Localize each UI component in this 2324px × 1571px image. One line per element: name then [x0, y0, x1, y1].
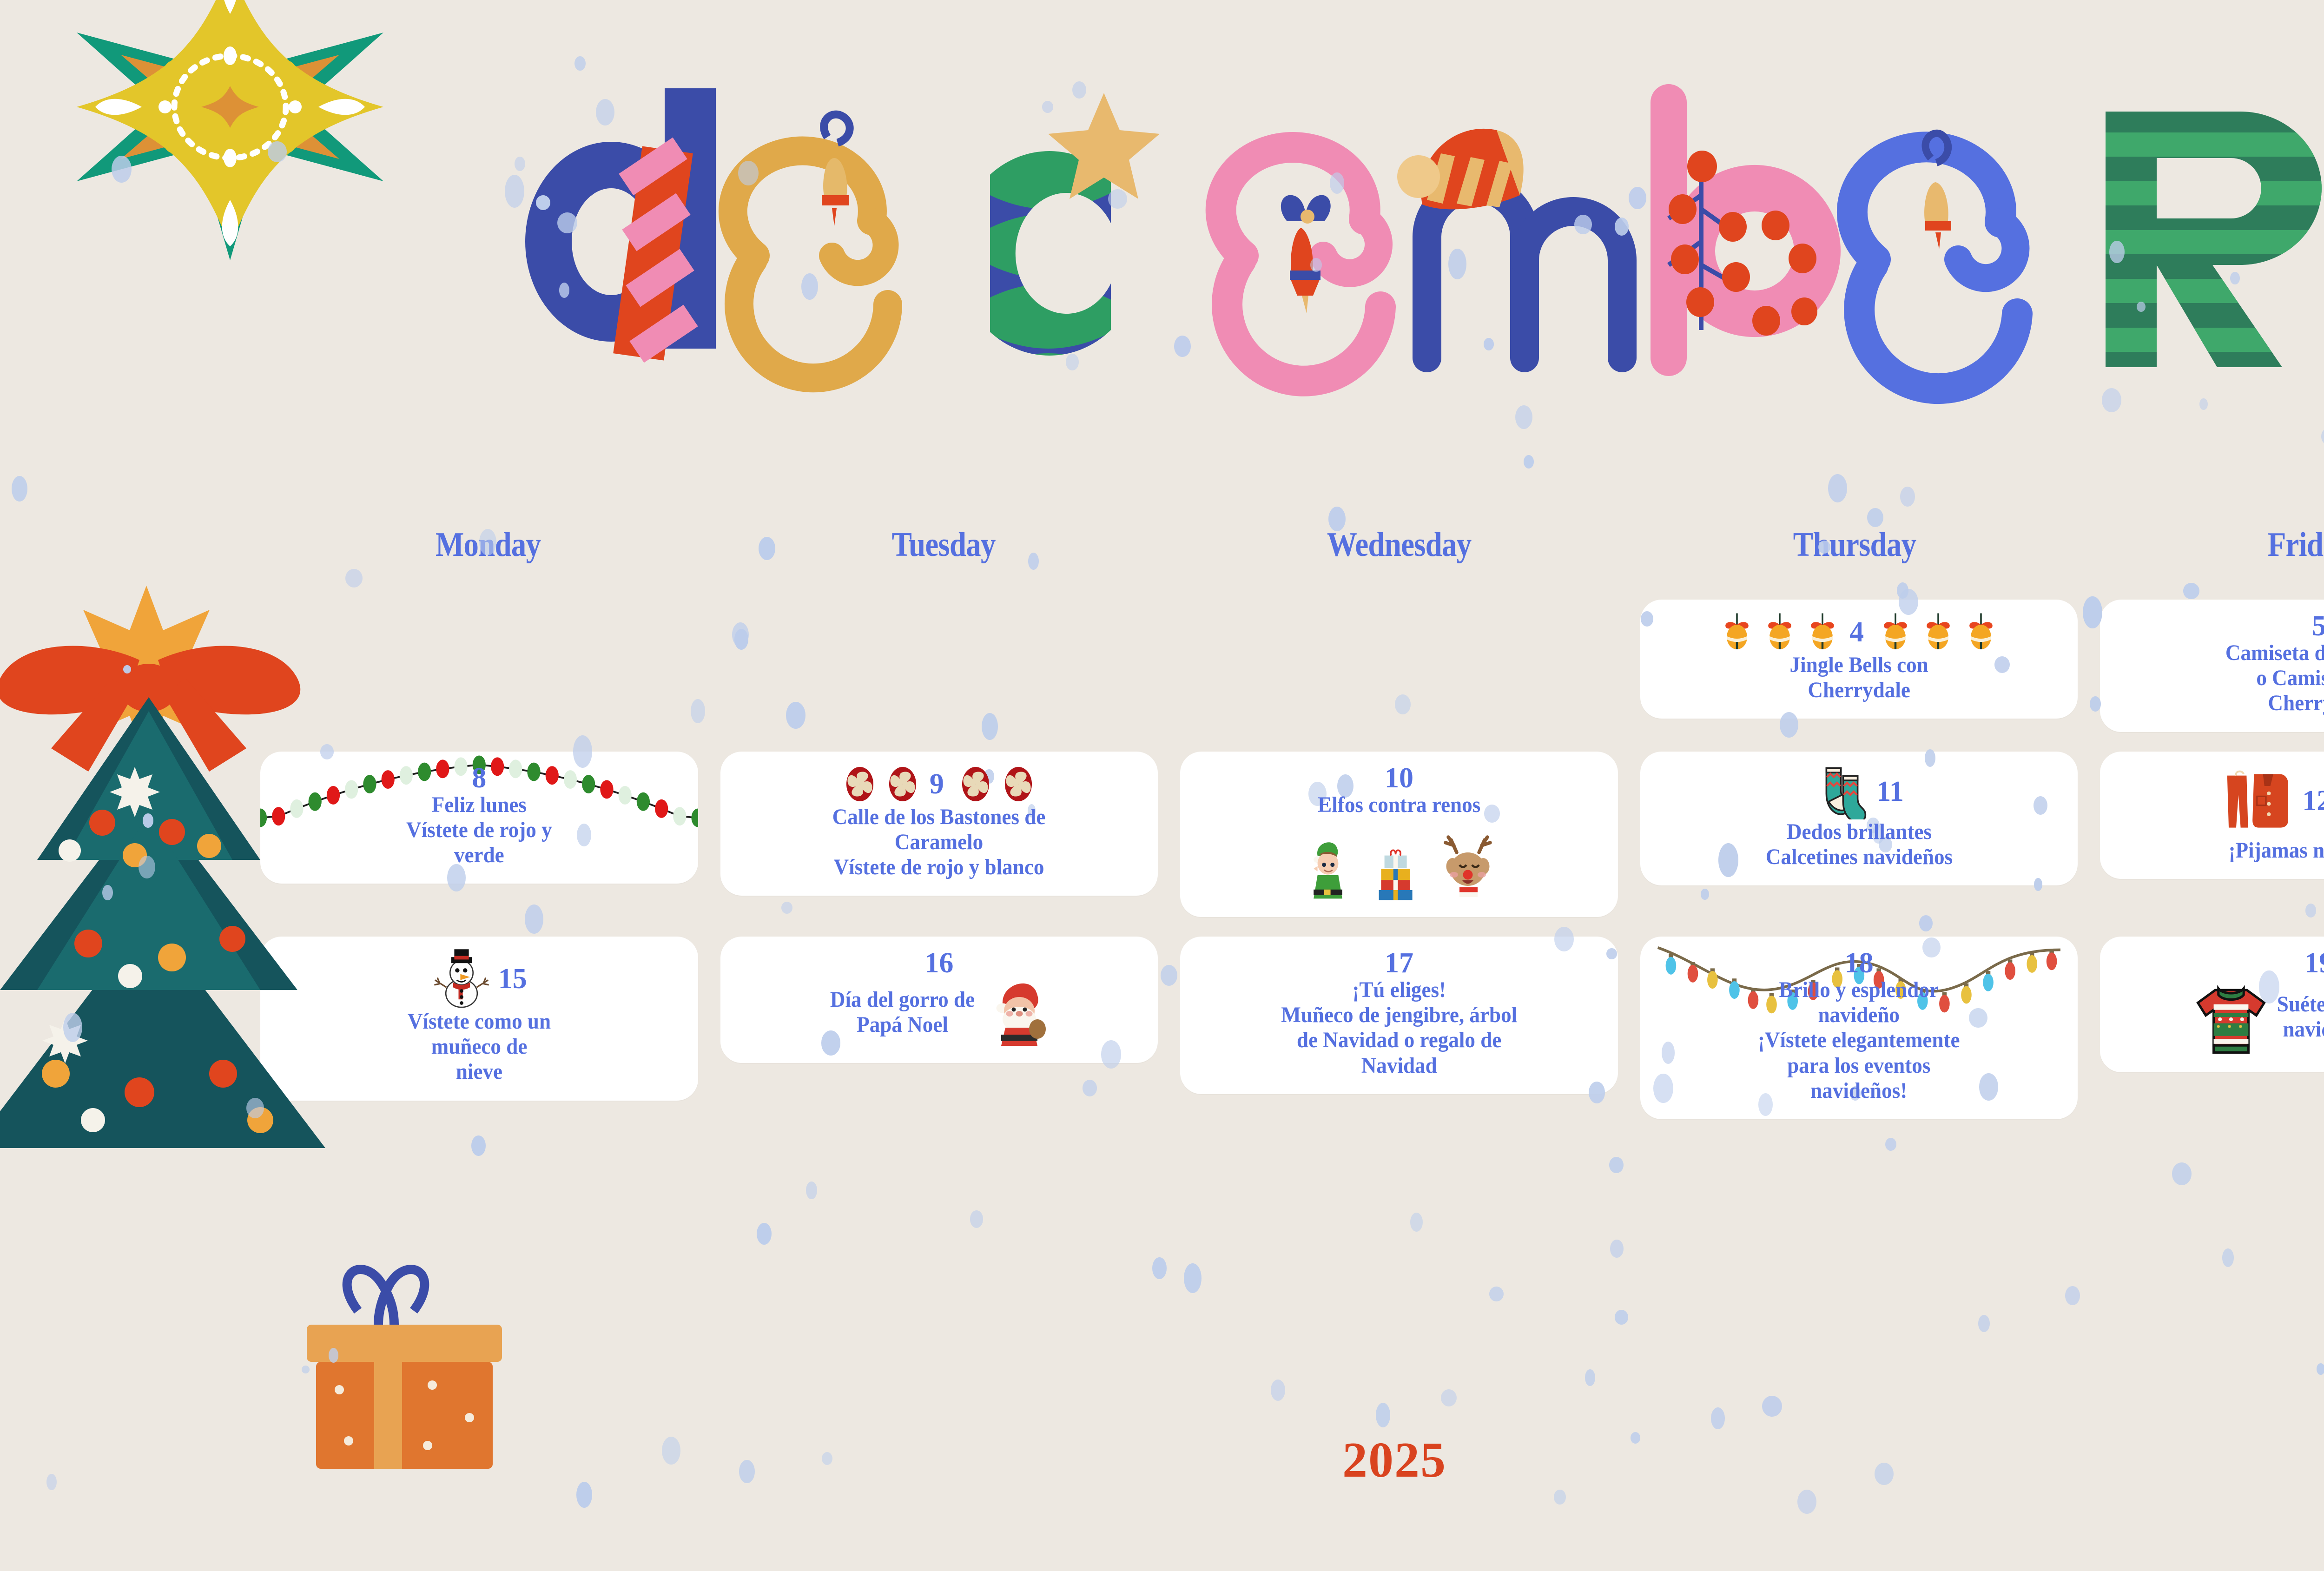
snow-dot	[1762, 1396, 1782, 1417]
snow-dot	[1441, 1389, 1457, 1406]
calendar-cell: 9 Calle de los Bastones deCarameloVístet…	[720, 752, 1158, 896]
title-letter-R	[2082, 98, 2324, 386]
day-number-row: 18	[1654, 949, 2064, 977]
card-text-row: Vístete como unmuñeco denieve	[274, 1009, 684, 1085]
day-number: 19	[2304, 949, 2324, 977]
elf-icon	[1295, 836, 1360, 901]
snow-dot	[329, 1348, 338, 1363]
jingle-bell-icon	[1802, 612, 1843, 653]
card-text-row: Feliz lunesVístete de rojo yverde	[274, 792, 684, 868]
card-description-line: ¡Pijamas navideños!	[2228, 838, 2324, 863]
snow-dot	[1978, 1315, 1990, 1332]
snow-dot	[123, 665, 131, 673]
snow-dot	[2065, 1286, 2080, 1305]
card-description-line: navidad	[2277, 1017, 2324, 1042]
christmas-socks-icon	[1814, 764, 1870, 819]
snow-dot	[102, 885, 113, 901]
snow-dot	[1152, 1257, 1167, 1279]
card-icons-right	[955, 764, 1039, 805]
card-icons-left	[839, 764, 923, 805]
card-description-line: verde	[406, 843, 552, 868]
card-description: Jingle Bells conCherrydale	[1789, 653, 1928, 703]
day-number-row: 17	[1194, 949, 1604, 977]
title-letter-e-2	[1221, 147, 1380, 381]
peppermint-candy-icon	[955, 764, 996, 805]
calendar-cell: 16Día del gorro dePapá Noel	[720, 937, 1158, 1063]
card-icons-left	[431, 949, 492, 1009]
snow-dot	[143, 813, 154, 828]
day-card-12[interactable]: 12 ¡Pijamas navideños!	[2100, 752, 2324, 879]
card-description-line: para los eventos	[1758, 1053, 1960, 1078]
weekday-header-friday: Friday	[2110, 525, 2324, 581]
calendar-cell: 5Camiseta de navidado Camiseta deCherryd…	[2100, 600, 2324, 732]
reindeer-icon	[1433, 832, 1503, 901]
calendar-cell	[260, 600, 698, 604]
card-description-line: Navidad	[1281, 1053, 1517, 1078]
card-text-row: ¡Pijamas navideños!	[2114, 838, 2324, 863]
card-description-line: Vístete de rojo y blanco	[832, 855, 1046, 880]
card-description: Vístete como unmuñeco denieve	[408, 1009, 551, 1085]
card-description-line: nieve	[408, 1059, 551, 1084]
snow-dot	[139, 856, 155, 879]
calendar-cell: 17¡Tú eliges!Muñeco de jengibre, árbolde…	[1180, 937, 1618, 1094]
card-icons-right	[1875, 612, 2001, 653]
snow-dot	[471, 1135, 486, 1156]
title-letter-d	[525, 88, 716, 363]
card-description: Brillo y esplendornavideño¡Vístete elega…	[1758, 977, 1960, 1103]
snow-dot	[1184, 1263, 1202, 1293]
snow-dot	[1554, 1490, 1565, 1505]
card-description: Calle de los Bastones deCarameloVístete …	[832, 805, 1046, 880]
card-description-line: navideños!	[1758, 1078, 1960, 1103]
day-card-5[interactable]: 5Camiseta de navidado Camiseta deCherryd…	[2100, 600, 2324, 732]
card-description-line: Jingle Bells con	[1789, 653, 1928, 678]
card-text-row: Elfos contra renos	[1194, 792, 1604, 818]
snow-dot	[2172, 1162, 2192, 1185]
card-text-row: Brillo y esplendornavideño¡Vístete elega…	[1654, 977, 2064, 1103]
title-letter-c	[990, 93, 1222, 400]
card-description-line: Papá Noel	[830, 1012, 975, 1037]
card-description-line: Calle de los Bastones de	[832, 805, 1046, 830]
day-number-row: 19	[2114, 949, 2324, 977]
card-description-line: Camiseta de navidad	[2225, 640, 2324, 666]
peppermint-candy-icon	[998, 764, 1039, 805]
day-number: 5	[2312, 612, 2324, 640]
card-description: ¡Pijamas navideños!	[2228, 838, 2324, 863]
jingle-bell-icon	[1717, 612, 1757, 653]
calendar-cell: 8Feliz lunesVístete de rojo yverde	[260, 752, 698, 884]
day-number: 12	[2302, 786, 2324, 815]
jingle-bell-icon	[1759, 612, 1800, 653]
gift-stack-icon	[1369, 845, 1425, 901]
card-description-line: navideño	[1758, 1003, 1960, 1028]
snow-dot	[970, 1210, 984, 1228]
snow-dot	[302, 1366, 309, 1373]
title-letter-e-3	[1852, 133, 2017, 389]
snowman-icon	[431, 949, 492, 1009]
card-description-line: muñeco de	[408, 1034, 551, 1059]
day-number: 18	[1845, 949, 1874, 977]
day-number-row: 9	[734, 764, 1144, 805]
calendar-cell: 10Elfos contra renos	[1180, 752, 1618, 917]
card-text-row: Día del gorro dePapá Noel	[734, 977, 1144, 1047]
card-description: Suéter denavidad	[2277, 992, 2324, 1042]
day-number-row: 10	[1194, 764, 1604, 792]
calendar-cell	[720, 600, 1158, 604]
card-description: Día del gorro dePapá Noel	[830, 987, 975, 1037]
card-description-line: Calcetines navideños	[1765, 845, 1952, 870]
day-number-row: 4	[1654, 612, 2064, 653]
snow-dot	[1900, 487, 1915, 506]
snow-dot	[1610, 1240, 1623, 1258]
day-number: 15	[498, 964, 527, 993]
title-letter-b	[1669, 102, 1841, 358]
snow-dot	[1885, 1138, 1896, 1151]
card-icons-left	[1814, 764, 1870, 819]
year-label: 2025	[0, 1432, 2324, 1489]
card-description-line: Vístete de rojo y	[406, 818, 552, 843]
calendar-cell: 18Brillo y esplendornavideño¡Vístete ele…	[1640, 937, 2078, 1119]
card-text-row: Camiseta de navidado Camiseta deCherryda…	[2114, 640, 2324, 716]
calendar-cell: 4 Jingle Bells conCherrydale	[1640, 600, 2078, 719]
snow-dot	[1797, 1490, 1816, 1514]
calendar-cell: 12 ¡Pijamas navideños!	[2100, 752, 2324, 879]
card-description-line: Brillo y esplendor	[1758, 977, 1960, 1003]
weekday-header-tuesday: Tuesday	[743, 525, 1144, 581]
card-icons-left	[1717, 612, 1843, 653]
day-number-row: 15	[274, 949, 684, 1009]
card-description-line: o Camiseta de	[2225, 666, 2324, 691]
calendar-cell: 11Dedos brillantesCalcetines navideños	[1640, 752, 2078, 885]
calendar-cell: 15Vístete como unmuñeco denieve	[260, 937, 698, 1101]
day-number-row: 12	[2114, 764, 2324, 838]
snow-dot	[1711, 1407, 1725, 1429]
day-number: 17	[1385, 949, 1413, 977]
santa-claus-icon	[983, 977, 1053, 1047]
card-description-line: Dedos brillantes	[1765, 819, 1952, 845]
jingle-bell-icon	[1875, 612, 1916, 653]
weekday-header-monday: Monday	[288, 525, 688, 581]
card-description-line: Caramelo	[832, 830, 1046, 855]
card-description-line: Suéter de	[2277, 992, 2324, 1017]
day-card-15[interactable]: 15Vístete como unmuñeco denieve	[260, 937, 698, 1101]
calendar-grid: 4 Jingle Bells conCherrydale5Camiseta de…	[260, 600, 2324, 1119]
calendar-canvas: Monday Tuesday Wednesday Thursday Friday	[0, 0, 2324, 1569]
snow-dot	[1828, 474, 1847, 502]
weekday-header-row: Monday Tuesday Wednesday Thursday Friday	[260, 525, 2324, 581]
snow-dot	[12, 476, 27, 502]
snow-dot	[1410, 1213, 1423, 1232]
snow-dot	[757, 1223, 772, 1245]
jingle-bell-icon	[1918, 612, 1959, 653]
snow-dot	[1585, 1369, 1595, 1386]
card-icons-left	[2221, 764, 2296, 838]
snow-dot	[2183, 583, 2199, 599]
calendar-cell: 19 Suéter denavidad	[2100, 937, 2324, 1072]
day-number-row: 11	[1654, 764, 2064, 819]
card-text-row: ¡Tú eliges!Muñeco de jengibre, árbolde N…	[1194, 977, 1604, 1078]
card-description-line: Muñeco de jengibre, árbol	[1281, 1003, 1517, 1028]
card-description-line: Vístete como un	[408, 1009, 551, 1034]
card-bottom-decoration	[1194, 822, 1604, 901]
snow-dot	[1376, 1403, 1390, 1427]
snow-dot	[1609, 1157, 1624, 1173]
day-card-11[interactable]: 11Dedos brillantesCalcetines navideños	[1640, 752, 2078, 885]
page-title	[386, 42, 2324, 442]
day-number: 4	[1849, 618, 1864, 647]
card-text-row: Jingle Bells conCherrydale	[1654, 653, 2064, 703]
card-description: Camiseta de navidado Camiseta deCherryda…	[2225, 640, 2324, 716]
day-number: 8	[472, 764, 486, 792]
day-card-4[interactable]: 4 Jingle Bells conCherrydale	[1640, 600, 2078, 719]
card-description: Elfos contra renos	[1318, 792, 1480, 818]
day-card-16[interactable]: 16Día del gorro dePapá Noel	[720, 937, 1158, 1063]
ugly-sweater-icon	[2192, 977, 2271, 1056]
day-card-18[interactable]: 18Brillo y esplendornavideño¡Vístete ele…	[1640, 937, 2078, 1119]
card-text-row: Suéter denavidad	[2114, 977, 2324, 1056]
card-description-line: Cherrydale	[1789, 678, 1928, 703]
snow-dot	[1489, 1287, 1503, 1301]
day-number: 11	[1876, 777, 1904, 806]
card-description-line: de Navidad o regalo de	[1281, 1028, 1517, 1053]
card-description-line: Elfos contra renos	[1318, 792, 1480, 818]
day-number-row: 5	[2114, 612, 2324, 640]
day-card-19[interactable]: 19 Suéter denavidad	[2100, 937, 2324, 1072]
day-number-row: 16	[734, 949, 1144, 977]
day-card-8[interactable]: 8Feliz lunesVístete de rojo yverde	[260, 752, 698, 884]
peppermint-candy-icon	[882, 764, 923, 805]
card-description-line: Feliz lunes	[406, 792, 552, 818]
jingle-bell-icon	[1961, 612, 2001, 653]
snow-dot	[112, 156, 132, 183]
peppermint-candy-icon	[839, 764, 880, 805]
card-description: Dedos brillantesCalcetines navideños	[1765, 819, 1952, 870]
day-card-10[interactable]: 10Elfos contra renos	[1180, 752, 1618, 917]
card-description-line: ¡Tú eliges!	[1281, 977, 1517, 1003]
day-card-17[interactable]: 17¡Tú eliges!Muñeco de jengibre, árbolde…	[1180, 937, 1618, 1094]
snow-dot	[268, 141, 286, 162]
card-description: Feliz lunesVístete de rojo yverde	[406, 792, 552, 868]
snow-dot	[1867, 508, 1883, 527]
day-number: 10	[1385, 764, 1413, 792]
snow-dot	[1615, 1310, 1628, 1324]
card-description: ¡Tú eliges!Muñeco de jengibre, árbolde N…	[1281, 977, 1517, 1078]
snow-dot	[1524, 455, 1534, 469]
red-pajamas-icon	[2221, 764, 2296, 838]
snow-dot	[1897, 582, 1908, 599]
card-text-row: Calle de los Bastones deCarameloVístete …	[734, 805, 1144, 880]
day-card-9[interactable]: 9 Calle de los Bastones deCarameloVístet…	[720, 752, 1158, 896]
day-number: 16	[924, 949, 953, 977]
snow-dot	[2317, 1363, 2324, 1375]
title-letter-e	[733, 114, 888, 378]
snow-dot	[2222, 1248, 2234, 1267]
card-description-line: Día del gorro de	[830, 987, 975, 1012]
snow-dot	[63, 1013, 82, 1042]
weekday-header-thursday: Thursday	[1654, 525, 2055, 581]
card-description-line: Cherrydale	[2225, 691, 2324, 716]
card-text-row: Dedos brillantesCalcetines navideños	[1654, 819, 2064, 870]
day-number: 9	[930, 770, 944, 799]
card-description-line: ¡Vístete elegantemente	[1758, 1028, 1960, 1053]
weekday-header-wednesday: Wednesday	[1199, 525, 1599, 581]
calendar-cell	[1180, 600, 1618, 604]
day-number-row: 8	[274, 764, 684, 792]
snow-dot	[806, 1182, 817, 1199]
title-letter-m	[1397, 129, 1622, 358]
snow-dot	[1271, 1380, 1286, 1401]
